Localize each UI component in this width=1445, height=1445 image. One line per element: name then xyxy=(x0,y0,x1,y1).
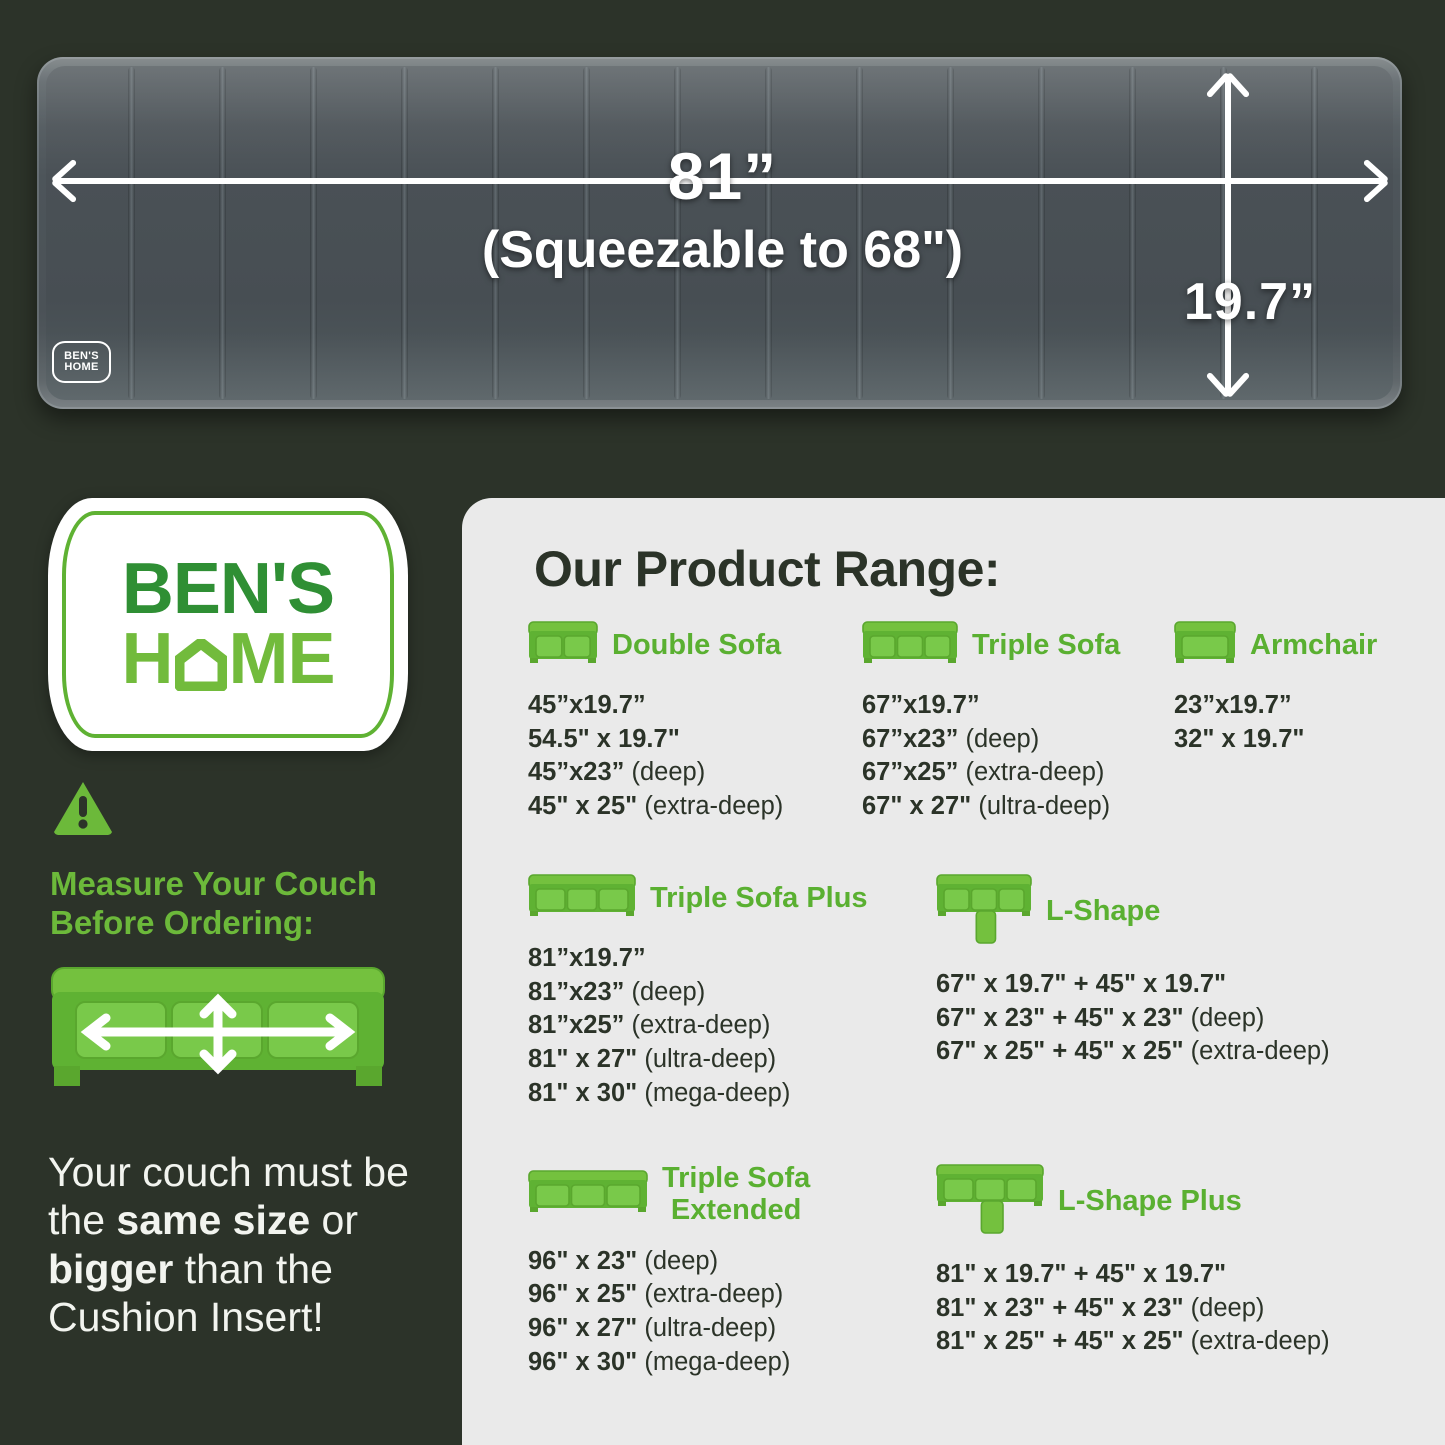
product-dimensions: 23”x19.7”32" x 19.7" xyxy=(1174,689,1377,756)
product-header: Triple Sofa xyxy=(862,620,1120,671)
dimension-line: 67”x25” (extra-deep) xyxy=(862,756,1120,790)
copy-bold-same-size: same size xyxy=(116,1197,310,1243)
product-triple-sofa: Triple Sofa67”x19.7”67”x23” (deep)67”x25… xyxy=(862,620,1120,824)
dimension-line: 45”x23” (deep) xyxy=(528,756,783,790)
dimension-value: 96" x 23" xyxy=(528,1247,637,1275)
dimension-suffix: (extra-deep) xyxy=(958,758,1104,786)
product-dimensions: 67”x19.7”67”x23” (deep)67”x25” (extra-de… xyxy=(862,689,1120,824)
dimension-value: 96" x 30" xyxy=(528,1348,637,1376)
dimension-suffix: (extra-deep) xyxy=(637,792,783,820)
dimension-value: 81”x25” xyxy=(528,1011,624,1039)
dimension-suffix: (extra-deep) xyxy=(624,1011,770,1039)
armchair-icon xyxy=(1174,620,1236,671)
product-dimensions: 45”x19.7”54.5" x 19.7"45”x23” (deep)45" … xyxy=(528,689,783,824)
dimension-line: 81" x 23" + 45" x 23" (deep) xyxy=(936,1292,1330,1326)
dimension-value: 45”x19.7” xyxy=(528,691,646,719)
product-triple-sofa-plus: Triple Sofa Plus81”x19.7”81”x23” (deep)8… xyxy=(528,873,868,1110)
dimension-value: 67”x25” xyxy=(862,758,958,786)
dimension-line: 81" x 25" + 45" x 25" (extra-deep) xyxy=(936,1325,1330,1359)
dimension-suffix: (deep) xyxy=(624,758,705,786)
product-range-panel: Our Product Range: Double Sofa45”x19.7”5… xyxy=(462,498,1445,1445)
product-header: Double Sofa xyxy=(528,620,783,671)
product-label-line: Triple Sofa xyxy=(662,1163,810,1195)
product-label: Double Sofa xyxy=(612,630,781,662)
dimension-line: 67" x 25" + 45" x 25" (extra-deep) xyxy=(936,1035,1330,1069)
dimension-value: 81" x 27" xyxy=(528,1045,637,1073)
hero-width-label: 81” xyxy=(0,138,1445,214)
dimension-value: 96" x 25" xyxy=(528,1280,637,1308)
product-header: L-Shape Plus xyxy=(936,1163,1330,1240)
dimension-value: 96" x 27" xyxy=(528,1314,637,1342)
logo-line-bens: BEN'S xyxy=(122,555,335,624)
dimension-suffix: (deep) xyxy=(958,725,1039,753)
dimension-line: 45" x 25" (extra-deep) xyxy=(528,790,783,824)
mat-brand-badge: BEN'S HOME xyxy=(52,341,111,383)
hero-depth-label: 19.7” xyxy=(1140,272,1360,332)
dimension-value: 67" x 27" xyxy=(862,792,971,820)
dimension-value: 45" x 25" xyxy=(528,792,637,820)
l-shape-plus-icon xyxy=(936,1163,1044,1240)
dimension-line: 45”x19.7” xyxy=(528,689,783,723)
dimension-value: 81" x 23" + 45" x 23" xyxy=(936,1294,1184,1322)
dimension-value: 67" x 25" + 45" x 25" xyxy=(936,1037,1184,1065)
product-dimensions: 81”x19.7”81”x23” (deep)81”x25” (extra-de… xyxy=(528,942,868,1110)
dimension-value: 81" x 30" xyxy=(528,1079,637,1107)
dimension-value: 54.5" x 19.7" xyxy=(528,725,680,753)
dimension-value: 32" x 19.7" xyxy=(1174,725,1305,753)
dimension-suffix: (ultra-deep) xyxy=(637,1045,776,1073)
l-shape-icon xyxy=(936,873,1032,950)
warn-line-2: Before Ordering: xyxy=(50,904,440,943)
dimension-suffix: (extra-deep) xyxy=(637,1280,783,1308)
dimension-line: 96" x 27" (ultra-deep) xyxy=(528,1312,810,1346)
dimension-line: 23”x19.7” xyxy=(1174,689,1377,723)
copy-part-2: or xyxy=(310,1197,358,1243)
product-label-line: Extended xyxy=(662,1195,810,1227)
dimension-suffix: (mega-deep) xyxy=(637,1079,790,1107)
dimension-suffix: (deep) xyxy=(1184,1004,1265,1032)
logo-line-home: H ME xyxy=(122,625,335,694)
product-l-shape: L-Shape67" x 19.7" + 45" x 19.7"67" x 23… xyxy=(936,873,1330,1069)
dimension-value: 67" x 23" + 45" x 23" xyxy=(936,1004,1184,1032)
dimension-line: 67" x 19.7" + 45" x 19.7" xyxy=(936,968,1330,1002)
dimension-line: 67" x 23" + 45" x 23" (deep) xyxy=(936,1002,1330,1036)
hero-squeezable-label: (Squeezable to 68") xyxy=(0,220,1445,280)
product-header: Triple SofaExtended xyxy=(528,1163,810,1227)
dimension-line: 54.5" x 19.7" xyxy=(528,723,783,757)
logo-home-h: H xyxy=(122,625,173,694)
product-label: Triple SofaExtended xyxy=(662,1163,810,1227)
dimension-line: 96" x 23" (deep) xyxy=(528,1245,810,1279)
logo-home-me: ME xyxy=(229,625,335,694)
mat-badge-line2: HOME xyxy=(64,362,98,373)
dimension-value: 67" x 19.7" + 45" x 19.7" xyxy=(936,970,1226,998)
hero-section: BEN'S HOME 81” (Squeezable to 68") 19.7” xyxy=(0,0,1445,470)
dimension-suffix: (deep) xyxy=(1184,1294,1265,1322)
copy-bold-bigger: bigger xyxy=(48,1246,173,1292)
dimension-value: 67”x23” xyxy=(862,725,958,753)
size-requirement-copy: Your couch must be the same size or bigg… xyxy=(48,1148,448,1342)
product-label: L-Shape Plus xyxy=(1058,1186,1242,1218)
dimension-line: 81" x 30" (mega-deep) xyxy=(528,1077,868,1111)
dimension-line: 81”x23” (deep) xyxy=(528,976,868,1010)
warning-triangle-icon xyxy=(52,780,114,836)
panel-title: Our Product Range: xyxy=(534,540,1000,598)
dimension-suffix: (mega-deep) xyxy=(637,1348,790,1376)
triple-sofa-plus-icon xyxy=(528,873,636,924)
measure-warning-heading: Measure Your Couch Before Ordering: xyxy=(50,865,440,943)
dimension-line: 81”x25” (extra-deep) xyxy=(528,1009,868,1043)
dimension-value: 45”x23” xyxy=(528,758,624,786)
dimension-suffix: (deep) xyxy=(624,978,705,1006)
product-label: L-Shape xyxy=(1046,896,1160,928)
house-icon xyxy=(175,633,227,685)
dimension-line: 96" x 30" (mega-deep) xyxy=(528,1346,810,1380)
dimension-line: 81" x 27" (ultra-deep) xyxy=(528,1043,868,1077)
triple-sofa-icon xyxy=(862,620,958,671)
dimension-value: 81" x 25" + 45" x 25" xyxy=(936,1327,1184,1355)
dimension-line: 67" x 27" (ultra-deep) xyxy=(862,790,1120,824)
left-column: BEN'S H ME Measure Your Couch Before Ord… xyxy=(0,470,460,1445)
dimension-suffix: (extra-deep) xyxy=(1184,1327,1330,1355)
product-l-shape-plus: L-Shape Plus81" x 19.7" + 45" x 19.7"81"… xyxy=(936,1163,1330,1359)
dimension-line: 32" x 19.7" xyxy=(1174,723,1377,757)
dimension-value: 67”x19.7” xyxy=(862,691,980,719)
dimension-suffix: (deep) xyxy=(637,1247,718,1275)
product-header: L-Shape xyxy=(936,873,1330,950)
triple-sofa-extended-icon xyxy=(528,1169,648,1220)
dimension-suffix: (ultra-deep) xyxy=(637,1314,776,1342)
dimension-value: 23”x19.7” xyxy=(1174,691,1292,719)
product-armchair: Armchair23”x19.7”32" x 19.7" xyxy=(1174,620,1377,756)
brand-logo: BEN'S H ME xyxy=(48,498,408,751)
dimension-line: 81" x 19.7" + 45" x 19.7" xyxy=(936,1258,1330,1292)
product-header: Armchair xyxy=(1174,620,1377,671)
warn-line-1: Measure Your Couch xyxy=(50,865,440,904)
double-sofa-icon xyxy=(528,620,598,671)
product-double-sofa: Double Sofa45”x19.7”54.5" x 19.7"45”x23”… xyxy=(528,620,783,824)
couch-measure-illustration xyxy=(48,962,388,1090)
dimension-line: 67”x19.7” xyxy=(862,689,1120,723)
product-dimensions: 96" x 23" (deep)96" x 25" (extra-deep)96… xyxy=(528,1245,810,1380)
dimension-value: 81”x23” xyxy=(528,978,624,1006)
dimension-value: 81" x 19.7" + 45" x 19.7" xyxy=(936,1260,1226,1288)
product-label: Armchair xyxy=(1250,630,1377,662)
product-triple-sofa-extended: Triple SofaExtended96" x 23" (deep)96" x… xyxy=(528,1163,810,1379)
product-dimensions: 67" x 19.7" + 45" x 19.7"67" x 23" + 45"… xyxy=(936,968,1330,1069)
product-header: Triple Sofa Plus xyxy=(528,873,868,924)
product-dimensions: 81" x 19.7" + 45" x 19.7"81" x 23" + 45"… xyxy=(936,1258,1330,1359)
dimension-value: 81”x19.7” xyxy=(528,944,646,972)
product-label: Triple Sofa Plus xyxy=(650,883,868,915)
dimension-suffix: (ultra-deep) xyxy=(971,792,1110,820)
dimension-line: 81”x19.7” xyxy=(528,942,868,976)
product-label: Triple Sofa xyxy=(972,630,1120,662)
dimension-suffix: (extra-deep) xyxy=(1184,1037,1330,1065)
dimension-line: 96" x 25" (extra-deep) xyxy=(528,1278,810,1312)
dimension-line: 67”x23” (deep) xyxy=(862,723,1120,757)
